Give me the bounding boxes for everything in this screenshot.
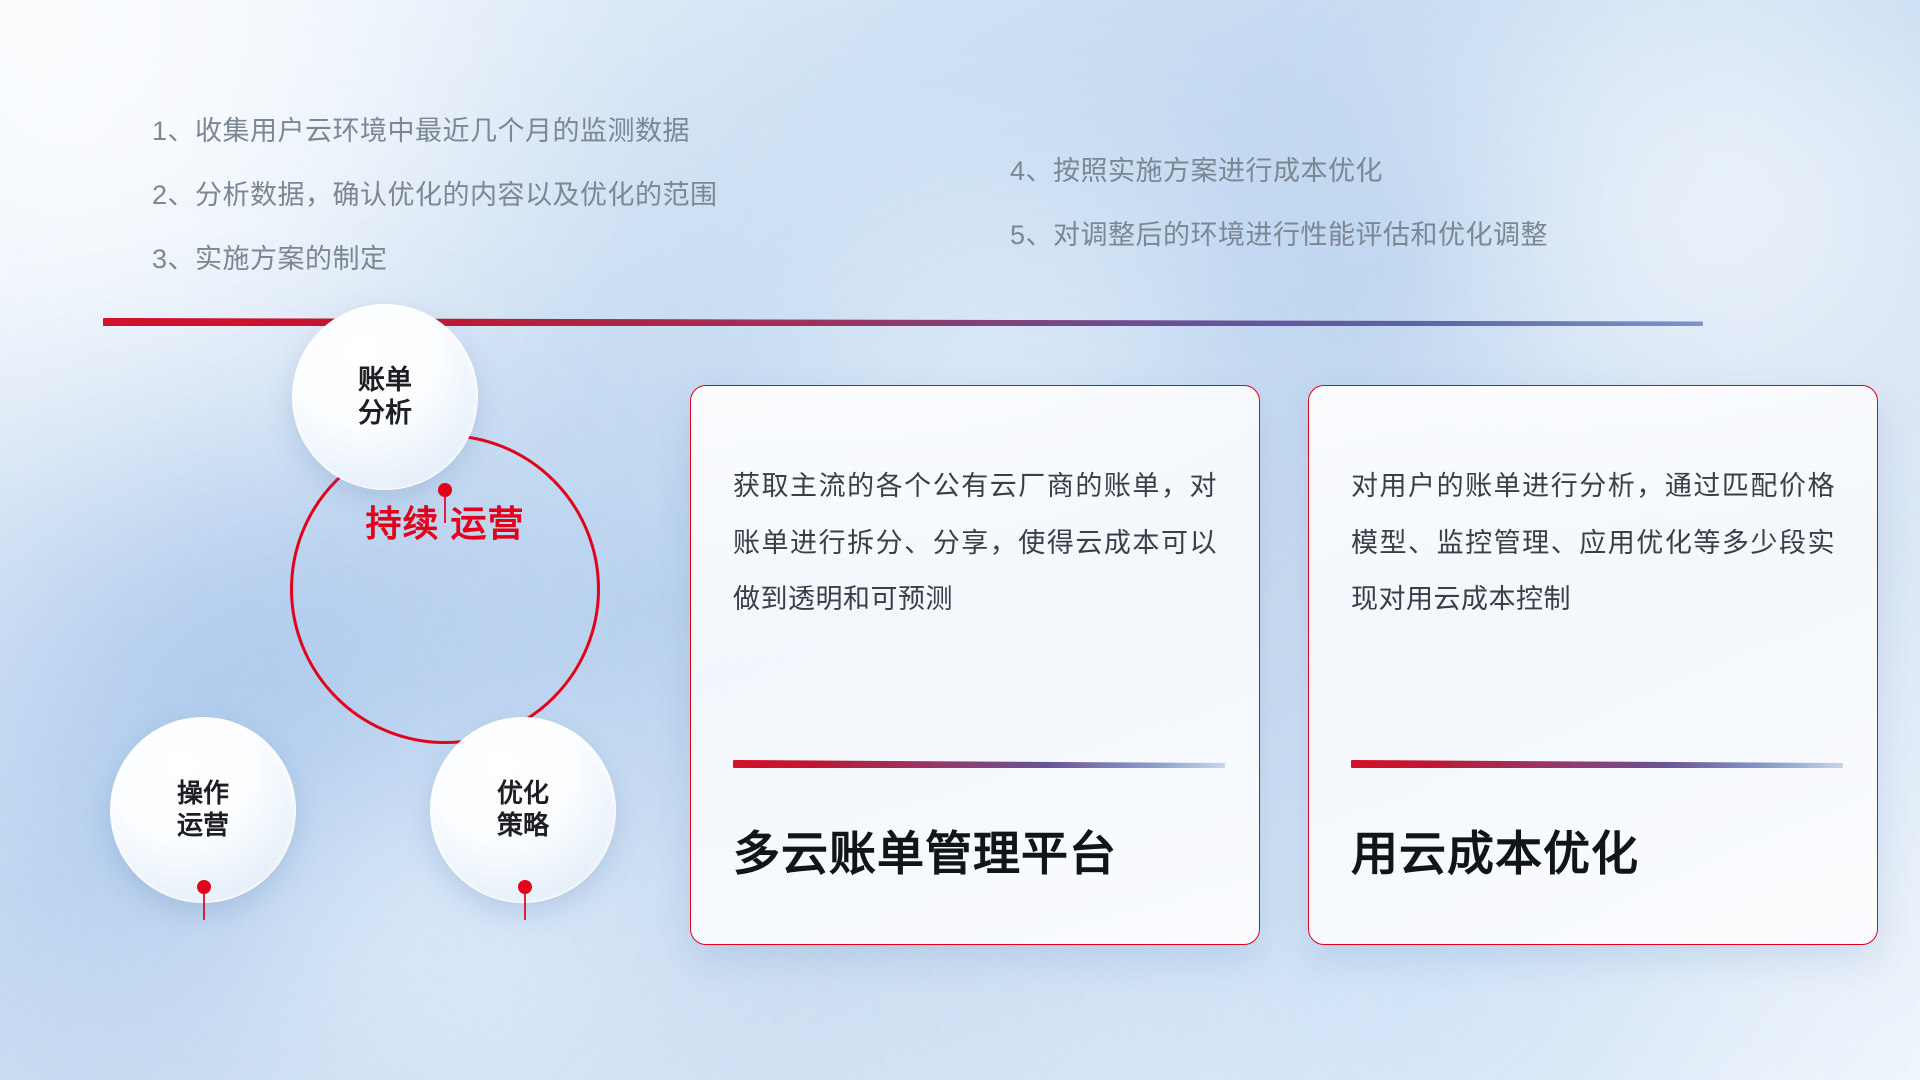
diagram-node-dot-left bbox=[197, 880, 211, 894]
card-title: 多云账单管理平台 bbox=[733, 828, 1225, 880]
steps-left-column: 1、收集用户云环境中最近几个月的监测数据 2、分析数据，确认优化的内容以及优化的… bbox=[152, 118, 718, 273]
step-item-1: 1、收集用户云环境中最近几个月的监测数据 bbox=[152, 118, 718, 145]
bubble-label-line2: 策略 bbox=[497, 810, 549, 842]
diagram-center-label-line2: 运营 bbox=[451, 503, 525, 544]
diagram-node-dot-top bbox=[438, 483, 452, 497]
diagram-tick-right bbox=[524, 894, 526, 920]
diagram-bubble-bill-analysis[interactable]: 账单 分析 bbox=[292, 304, 478, 490]
card-description: 获取主流的各个公有云厂商的账单，对账单进行拆分、分享，使得云成本可以做到透明和可… bbox=[733, 458, 1217, 706]
diagram-center-label-line1: 持续 bbox=[365, 503, 439, 544]
feature-card-multi-cloud-bill-platform[interactable]: 获取主流的各个公有云厂商的账单，对账单进行拆分、分享，使得云成本可以做到透明和可… bbox=[690, 385, 1260, 945]
bubble-label-line1: 账单 bbox=[358, 364, 412, 397]
steps-right-column: 4、按照实施方案进行成本优化 5、对调整后的环境进行性能评估和优化调整 bbox=[1010, 158, 1548, 249]
card-divider bbox=[1351, 760, 1843, 768]
card-title: 用云成本优化 bbox=[1351, 828, 1843, 880]
diagram-tick-left bbox=[203, 894, 205, 920]
diagram-node-dot-right bbox=[518, 880, 532, 894]
step-item-4: 4、按照实施方案进行成本优化 bbox=[1010, 158, 1548, 185]
continuous-operation-diagram: 持续 运营 账单 分析 操作 运营 优化 策略 bbox=[100, 350, 620, 950]
step-item-3: 3、实施方案的制定 bbox=[152, 246, 718, 273]
card-divider bbox=[733, 760, 1225, 768]
card-description: 对用户的账单进行分析，通过匹配价格模型、监控管理、应用优化等多少段实现对用云成本… bbox=[1351, 458, 1835, 706]
feature-card-cloud-cost-optimization[interactable]: 对用户的账单进行分析，通过匹配价格模型、监控管理、应用优化等多少段实现对用云成本… bbox=[1308, 385, 1878, 945]
diagram-bubble-operations[interactable]: 操作 运营 bbox=[110, 717, 296, 903]
bubble-label-line2: 运营 bbox=[177, 810, 229, 842]
bubble-label-line1: 优化 bbox=[497, 778, 549, 810]
diagram-tick-top bbox=[444, 497, 446, 523]
step-item-2: 2、分析数据，确认优化的内容以及优化的范围 bbox=[152, 182, 718, 209]
bubble-label-line2: 分析 bbox=[358, 397, 412, 430]
bubble-label-line1: 操作 bbox=[177, 778, 229, 810]
diagram-bubble-optimization-strategy[interactable]: 优化 策略 bbox=[430, 717, 616, 903]
diagram-ring bbox=[290, 434, 600, 744]
step-item-5: 5、对调整后的环境进行性能评估和优化调整 bbox=[1010, 222, 1548, 249]
